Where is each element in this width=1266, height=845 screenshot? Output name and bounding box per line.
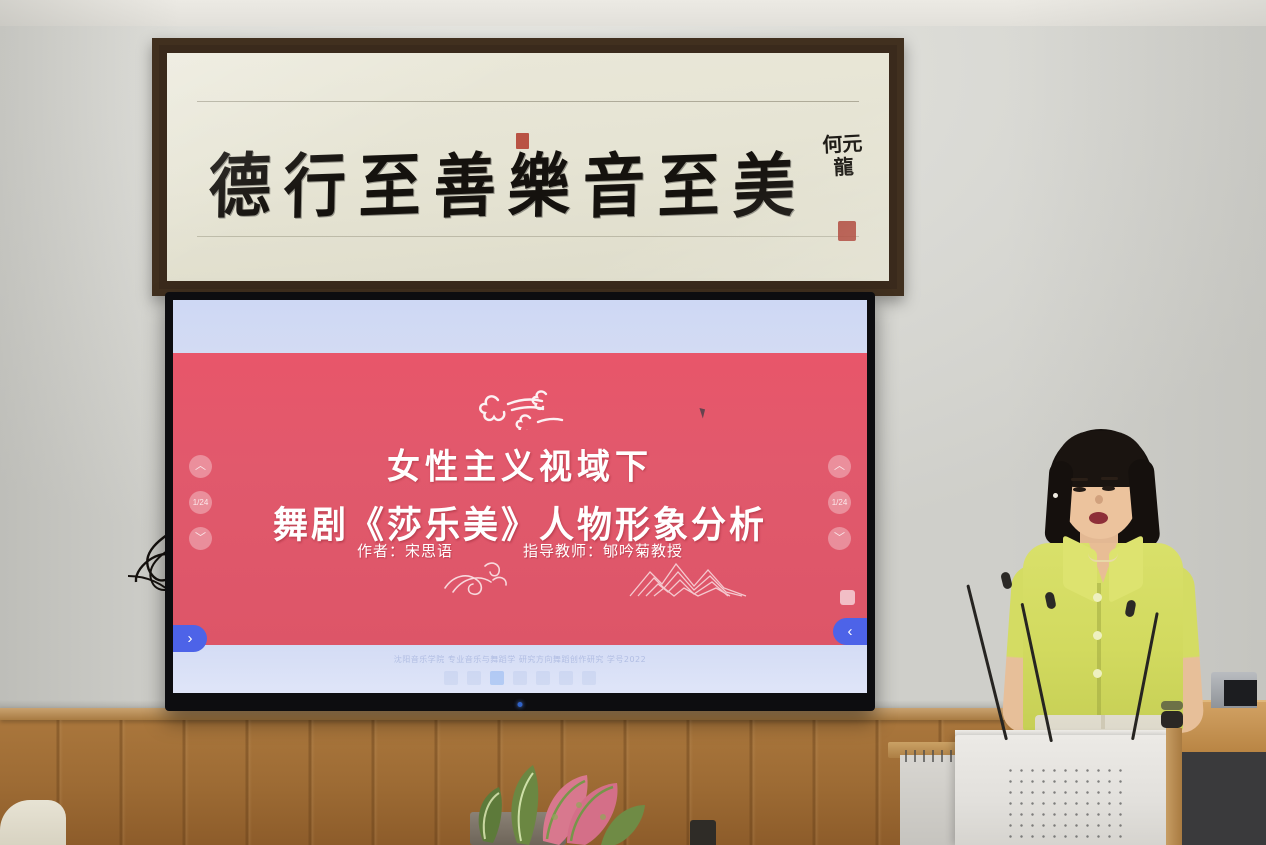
podium-speaker-grille: [1005, 765, 1123, 843]
foreground-person-shoulder: [0, 800, 66, 845]
calligraphy-characters: 德 行 至 善 樂 音 至 美: [205, 111, 800, 249]
necklace: [1088, 553, 1118, 562]
tv-screen[interactable]: 女性主义视域下 舞剧《莎乐美》人物形象分析 作者：宋思语 指导教师：郇吟菊教授: [173, 300, 867, 693]
calligraphy-char-1: 德: [208, 129, 274, 232]
slide-next-edge-button[interactable]: ›: [173, 625, 207, 652]
potted-plant-icon: [455, 745, 655, 845]
mountain-motif-icon: [628, 556, 748, 598]
slide-bottom-band: [173, 645, 867, 693]
slide-scroll-up-button-left[interactable]: ︿: [189, 455, 212, 478]
calligraphy-seal-bottom: [838, 221, 856, 241]
slide-stop-square-button[interactable]: [840, 590, 855, 605]
calligraphy-char-4: 善: [433, 129, 499, 232]
slide-author: 作者：宋思语: [357, 540, 453, 561]
nose: [1095, 495, 1103, 504]
slide-scroll-up-button-right[interactable]: ︿: [828, 455, 851, 478]
slide-page-indicator-right[interactable]: 1/24: [828, 491, 851, 514]
eraser-icon[interactable]: [559, 671, 573, 685]
slide-scroll-down-button-right[interactable]: ﹀: [828, 527, 851, 550]
list-icon[interactable]: [513, 671, 527, 685]
slide-annotation-toolbar[interactable]: [444, 671, 596, 685]
slide-title: 女性主义视域下 舞剧《莎乐美》人物形象分析: [173, 440, 867, 548]
calligraphy-char-2: 行: [283, 129, 349, 232]
presentation-room-scene: 德 行 至 善 樂 音 至 美 何元龍: [0, 0, 1266, 845]
blouse-button-3: [1093, 669, 1102, 678]
belt-loop: [1101, 715, 1105, 729]
podium-left-panel: [900, 755, 962, 845]
wristwatch: [1161, 711, 1183, 728]
framed-calligraphy: 德 行 至 善 樂 音 至 美 何元龍: [152, 38, 904, 296]
calligraphy-paper: 德 行 至 善 樂 音 至 美 何元龍: [167, 53, 889, 281]
calligraphy-char-3: 至: [358, 129, 424, 232]
mouth: [1089, 512, 1108, 524]
podium-wood-trim: [1166, 728, 1182, 845]
calligraphy-char-5: 樂: [507, 129, 573, 232]
eyebrow-left: [1071, 478, 1088, 481]
slide-credits: 作者：宋思语 指导教师：郇吟菊教授: [173, 540, 867, 561]
calligraphy-char-6: 音: [582, 129, 648, 232]
bracelet: [1161, 701, 1183, 710]
auspicious-cloud-icon: [472, 384, 568, 430]
wave-motif-icon: [441, 558, 513, 596]
slide-scroll-down-button-left[interactable]: ﹀: [189, 527, 212, 550]
pen-icon[interactable]: [444, 671, 458, 685]
eye-left: [1073, 487, 1086, 492]
pointer-icon[interactable]: [490, 671, 504, 685]
blouse-button-1: [1093, 593, 1102, 602]
podium-vent-slots: [905, 750, 959, 762]
slide-footer-text: 沈阳音乐学院 专业音乐与舞蹈学 研究方向舞蹈创作研究 学号2022: [173, 654, 867, 665]
tv-power-led-icon: [518, 702, 523, 707]
more-icon[interactable]: [582, 671, 596, 685]
calligraphy-signature: 何元龍: [822, 132, 864, 180]
slide-top-band: [173, 300, 867, 353]
bottle: [690, 820, 716, 845]
eyebrow-right: [1101, 477, 1118, 480]
slide-prev-edge-button[interactable]: ‹: [833, 618, 867, 645]
eye-right: [1102, 486, 1115, 491]
slide-title-line-1: 女性主义视域下: [173, 439, 867, 489]
highlighter-icon[interactable]: [467, 671, 481, 685]
wall-mounted-television[interactable]: 女性主义视域下 舞剧《莎乐美》人物形象分析 作者：宋思语 指导教师：郇吟菊教授: [165, 292, 875, 711]
slide-page-indicator-left[interactable]: 1/24: [189, 491, 212, 514]
blouse-button-2: [1093, 631, 1102, 640]
calligraphy-char-7: 至: [657, 129, 723, 232]
earring: [1053, 493, 1058, 498]
shapes-icon[interactable]: [536, 671, 550, 685]
blouse-placket: [1097, 583, 1101, 733]
calligraphy-char-8: 美: [732, 129, 798, 232]
